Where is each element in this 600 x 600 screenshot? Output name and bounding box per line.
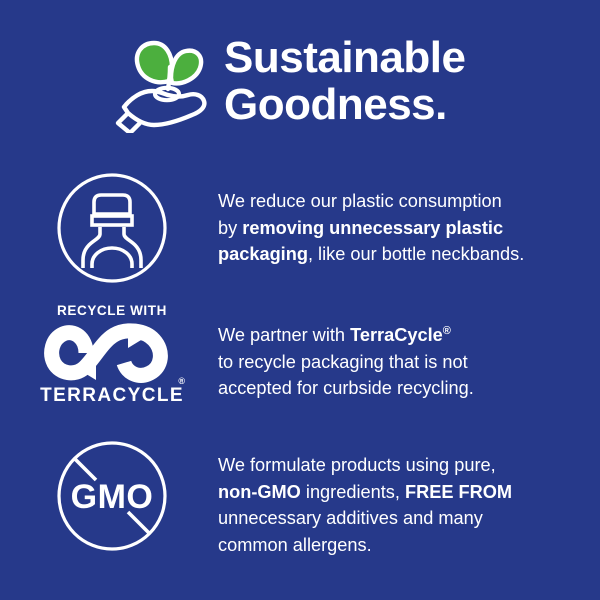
feature-row-terracycle: RECYCLE WITH ® TERRACYCLE We partner wit…	[0, 303, 600, 406]
terracycle-logo-icon: RECYCLE WITH ® TERRACYCLE	[38, 303, 186, 406]
feature-row-non-gmo: GMO We formulate products using pure,non…	[0, 440, 600, 558]
page-title-line-1: Sustainable	[224, 34, 465, 81]
page-title: Sustainable Goodness.	[224, 34, 465, 128]
feature-text-line: common allergens.	[218, 532, 586, 559]
sustainable-goodness-infographic: Sustainable Goodness. We reduce ou	[0, 0, 600, 600]
terracycle-wordmark: TERRACYCLE	[40, 385, 184, 406]
terracycle-top-label: RECYCLE WITH	[57, 303, 167, 318]
feature-text-line: by removing unnecessary plastic	[218, 215, 586, 242]
hand-holding-plant-icon	[112, 33, 216, 133]
feature-text-terracycle: We partner with TerraCycle®to recycle pa…	[218, 303, 600, 402]
feature-text-line: We partner with TerraCycle®	[218, 318, 586, 349]
feature-row-plastic-packaging: We reduce our plastic consumptionby remo…	[0, 172, 600, 284]
feature-text-line: We reduce our plastic consumption	[218, 188, 586, 215]
registered-mark-icon: ®	[178, 376, 185, 386]
feature-icon-cell: RECYCLE WITH ® TERRACYCLE	[0, 303, 218, 406]
feature-text-line: We formulate products using pure,	[218, 452, 586, 479]
page-title-line-2: Goodness.	[224, 81, 465, 128]
feature-text-plastic-packaging: We reduce our plastic consumptionby remo…	[218, 172, 600, 268]
bottle-neckband-circle-icon	[56, 172, 168, 284]
feature-icon-cell: GMO	[0, 440, 218, 552]
svg-text:GMO: GMO	[71, 478, 154, 516]
feature-text-line: non-GMO ingredients, FREE FROM	[218, 479, 586, 506]
terracycle-infinity-icon: ®	[40, 322, 184, 384]
feature-text-line: packaging, like our bottle neckbands.	[218, 241, 586, 268]
feature-text-non-gmo: We formulate products using pure,non-GMO…	[218, 440, 600, 558]
header: Sustainable Goodness.	[0, 22, 600, 140]
feature-text-line: to recycle packaging that is not	[218, 349, 586, 376]
feature-text-line: accepted for curbside recycling.	[218, 375, 586, 402]
feature-text-line: unnecessary additives and many	[218, 505, 586, 532]
no-gmo-circle-icon: GMO	[56, 440, 168, 552]
feature-icon-cell	[0, 172, 218, 284]
